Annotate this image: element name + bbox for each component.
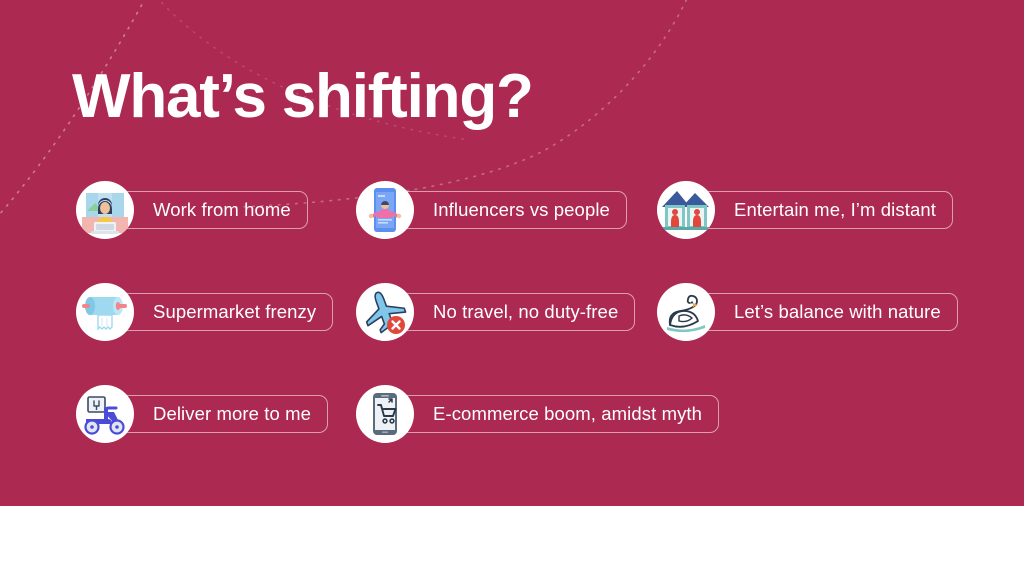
shift-item-pill[interactable]: Deliver more to me (116, 395, 328, 433)
slide-body: What’s shifting? (0, 0, 1024, 506)
shift-item-pill[interactable]: Let’s balance with nature (697, 293, 958, 331)
work-from-home-icon (76, 181, 134, 239)
shift-item-label: E-commerce boom, amidst myth (433, 405, 702, 424)
shift-item-pill[interactable]: Entertain me, I’m distant (697, 191, 953, 229)
shift-item-entertain-me[interactable]: Entertain me, I’m distant (657, 178, 953, 242)
swan-icon (657, 283, 715, 341)
shift-item-pill[interactable]: E-commerce boom, amidst myth (396, 395, 719, 433)
shift-item-label: Work from home (153, 201, 291, 220)
shift-item-label: No travel, no duty-free (433, 303, 618, 322)
shift-item-influencers-vs-people[interactable]: Influencers vs people (356, 178, 627, 242)
neighbours-houses-icon (657, 181, 715, 239)
shift-item-ecommerce-boom[interactable]: E-commerce boom, amidst myth (356, 382, 719, 446)
slide: What’s shifting? (0, 0, 1024, 573)
shift-item-label: Influencers vs people (433, 201, 610, 220)
shift-item-deliver-more[interactable]: Deliver more to me (76, 382, 328, 446)
shift-item-pill[interactable]: No travel, no duty-free (396, 293, 635, 331)
shift-item-label: Deliver more to me (153, 405, 311, 424)
influencer-phone-icon (356, 181, 414, 239)
no-flight-icon (356, 283, 414, 341)
shift-item-pill[interactable]: Influencers vs people (396, 191, 627, 229)
shift-item-no-travel[interactable]: No travel, no duty-free (356, 280, 635, 344)
page-title: What’s shifting? (72, 64, 533, 129)
delivery-scooter-icon (76, 385, 134, 443)
shift-item-work-from-home[interactable]: Work from home (76, 178, 308, 242)
shift-item-label: Let’s balance with nature (734, 303, 941, 322)
mobile-shopping-cart-icon (356, 385, 414, 443)
slide-footer: 4 COVID-19: Adapt & Respond isentia (0, 506, 1024, 573)
shift-item-pill[interactable]: Supermarket frenzy (116, 293, 333, 331)
toilet-paper-roll-icon (76, 283, 134, 341)
shift-item-label: Entertain me, I’m distant (734, 201, 936, 220)
shift-item-supermarket-frenzy[interactable]: Supermarket frenzy (76, 280, 333, 344)
shift-item-pill[interactable]: Work from home (116, 191, 308, 229)
shift-item-label: Supermarket frenzy (153, 303, 316, 322)
shift-item-balance-with-nature[interactable]: Let’s balance with nature (657, 280, 958, 344)
